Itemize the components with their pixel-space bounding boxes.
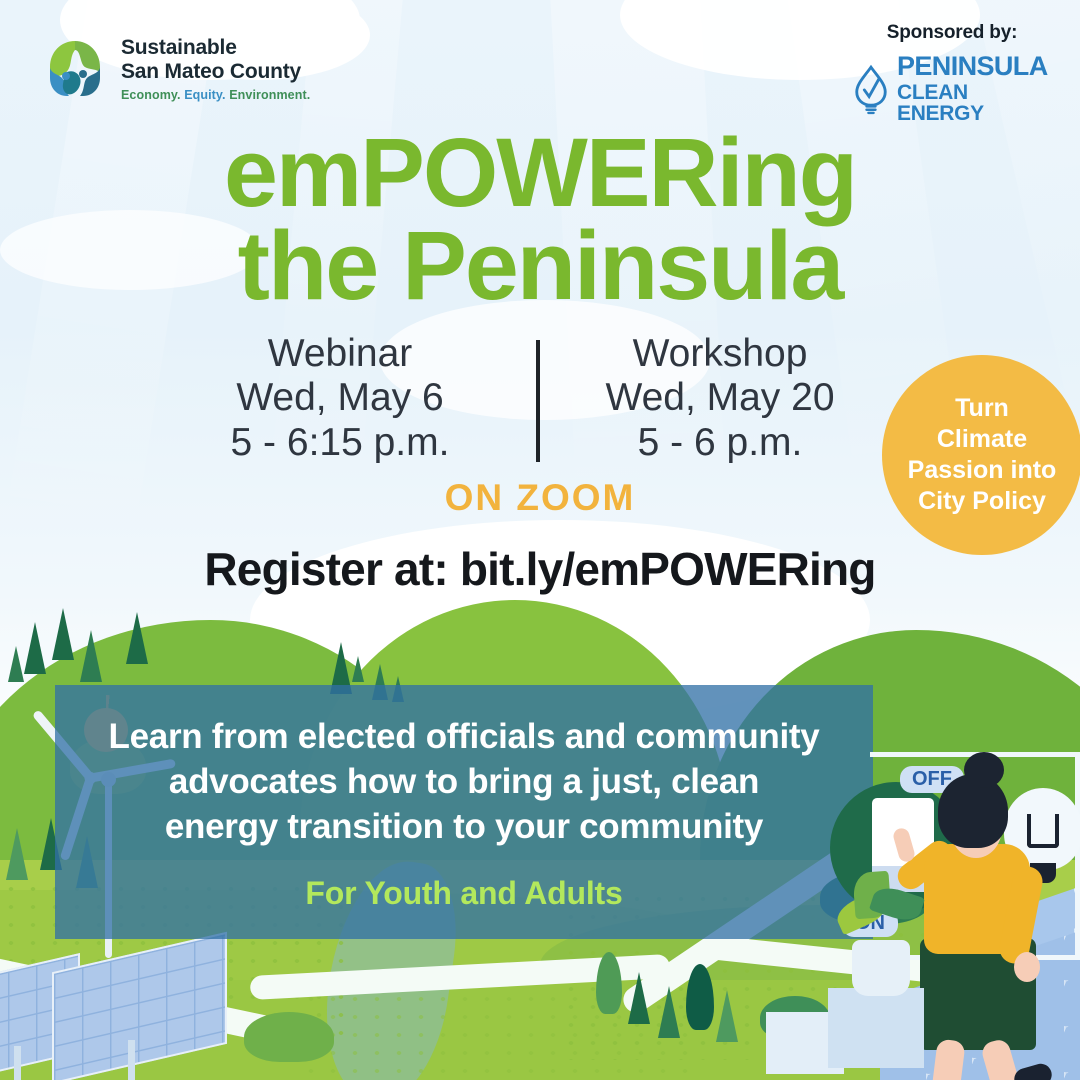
org-name-line2: San Mateo County [121, 60, 310, 84]
globe-puzzle-icon [42, 38, 108, 100]
panel-audience: For Youth and Adults [89, 875, 839, 912]
org-tagline-environment: Environment. [229, 88, 310, 102]
event-list: Webinar Wed, May 6 5 - 6:15 p.m. Worksho… [150, 332, 910, 465]
title-line2: the Peninsula [0, 219, 1080, 312]
panel-body-line2: advocates how to bring a just, clean [89, 760, 839, 805]
poster-canvas: Sustainable San Mateo County Economy. Eq… [0, 0, 1080, 1080]
badge-line2: Climate [908, 424, 1057, 455]
sponsored-by-label: Sponsored by: [852, 22, 1052, 44]
person-hair-bun [964, 752, 1004, 788]
register-link[interactable]: Register at: bit.ly/emPOWERing [0, 542, 1080, 596]
sponsor-name-line2: CLEAN ENERGY [897, 82, 1052, 124]
event-date: Wed, May 20 [530, 376, 910, 420]
status-badge: Turn Climate Passion into City Policy [882, 355, 1080, 555]
droplet-bulb-icon [852, 63, 890, 115]
event-date: Wed, May 6 [150, 376, 530, 420]
description-panel: Learn from elected officials and communi… [55, 685, 873, 939]
badge-line4: City Policy [908, 486, 1057, 517]
title-line1: emPOWERing [0, 126, 1080, 219]
poster-title: emPOWERing the Peninsula [0, 126, 1080, 312]
event-time: 5 - 6 p.m. [530, 421, 910, 465]
person-shoe [1012, 1061, 1055, 1080]
org-tagline-economy: Economy. [121, 88, 181, 102]
panel-body-line1: Learn from elected officials and communi… [89, 715, 839, 760]
org-name-line1: Sustainable [121, 36, 310, 60]
panel-body-line3: energy transition to your community [89, 805, 839, 850]
sponsor-block: Sponsored by: PENINSULA CLEAN ENERGY [852, 22, 1052, 124]
pedestal-front [828, 988, 924, 1068]
organization-logo: Sustainable San Mateo County Economy. Eq… [42, 36, 310, 102]
badge-line1: Turn [908, 393, 1057, 424]
badge-line3: Passion into [908, 455, 1057, 486]
sponsor-name-line1: PENINSULA [897, 53, 1052, 80]
plant-pot [852, 940, 910, 996]
event-time: 5 - 6:15 p.m. [150, 421, 530, 465]
event-name: Webinar [150, 332, 530, 376]
person-switch-illustration: OFF ON [838, 740, 1080, 1080]
person-right-hand [1014, 952, 1040, 982]
event-webinar: Webinar Wed, May 6 5 - 6:15 p.m. [150, 332, 530, 465]
org-tagline-equity: Equity. [184, 88, 225, 102]
event-divider [536, 340, 540, 462]
event-name: Workshop [530, 332, 910, 376]
event-workshop: Workshop Wed, May 20 5 - 6 p.m. [530, 332, 910, 465]
